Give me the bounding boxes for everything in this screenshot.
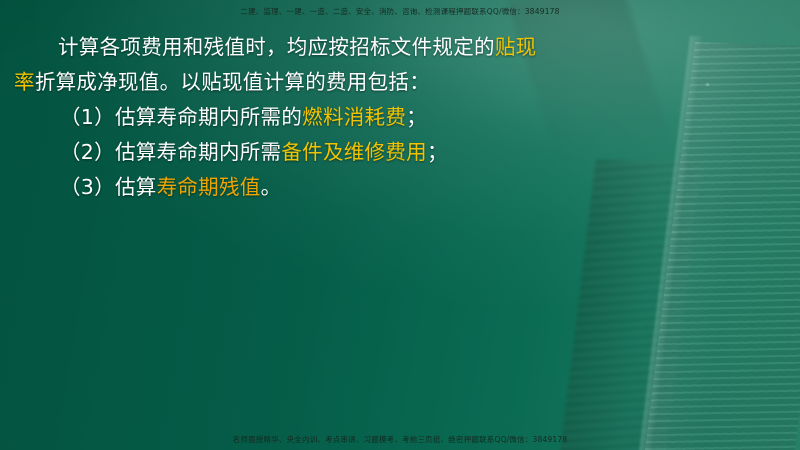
list-item-1-text-before: 估算寿命期内所需的 xyxy=(115,105,302,129)
watermark-bottom: 名师面授精华、央全内训、考点串讲、习题模考、考前三页纸、绝密押题联系QQ/微信：… xyxy=(0,436,800,444)
list-item-1-text-after: ； xyxy=(406,105,427,129)
paragraph-line-2-highlight: 率 xyxy=(14,70,35,94)
light-speck xyxy=(706,83,709,86)
list-item-3-marker: （3） xyxy=(60,175,115,199)
paragraph-line-1-text: 计算各项费用和残值时，均应按招标文件规定的 xyxy=(58,35,495,59)
list-item-3-highlight: 寿命期残值 xyxy=(157,175,261,199)
list-item-3: （3）估算寿命期残值。 xyxy=(14,170,580,205)
paragraph-line-2: 率折算成净现值。以贴现值计算的费用包括： xyxy=(14,65,580,100)
paragraph-line-1: 计算各项费用和残值时，均应按招标文件规定的贴现 xyxy=(14,30,580,65)
paragraph-line-1-highlight: 贴现 xyxy=(495,35,537,59)
slide-text-content: 计算各项费用和残值时，均应按招标文件规定的贴现 率折算成净现值。以贴现值计算的费… xyxy=(0,30,590,205)
list-item-1-highlight: 燃料消耗费 xyxy=(302,105,406,129)
list-item-2-text-after: ； xyxy=(427,140,448,164)
list-item-2-text-before: 估算寿命期内所需 xyxy=(115,140,281,164)
list-item-3-text-after: 。 xyxy=(261,175,282,199)
list-item-1: （1）估算寿命期内所需的燃料消耗费； xyxy=(14,100,580,135)
list-item-2-marker: （2） xyxy=(60,140,115,164)
list-item-1-marker: （1） xyxy=(60,105,115,129)
list-item-2-highlight: 备件及维修费用 xyxy=(281,140,427,164)
list-item-3-text-before: 估算 xyxy=(115,175,157,199)
paragraph-line-2-text: 折算成净现值。以贴现值计算的费用包括： xyxy=(35,70,430,94)
watermark-top: 二建、监理、一建、一造、二造、安全、消防、咨询、检测课程押题联系QQ/微信：38… xyxy=(0,8,800,16)
list-item-2: （2）估算寿命期内所需备件及维修费用； xyxy=(14,135,580,170)
presentation-slide: 二建、监理、一建、一造、二造、安全、消防、咨询、检测课程押题联系QQ/微信：38… xyxy=(0,0,800,450)
